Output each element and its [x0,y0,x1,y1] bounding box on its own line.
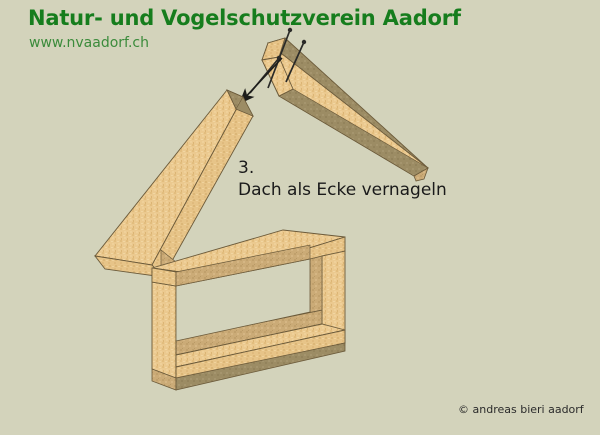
instruction-step-text: Dach als Ecke vernageln [238,180,447,200]
birdhouse-assembly-diagram [0,0,600,435]
frame-left-stile-face [152,282,176,378]
page-canvas: Natur- und Vogelschutzverein Aadorf www.… [0,0,600,435]
right-roof-board [262,38,428,181]
copyright-notice: © andreas bieri aadorf [458,403,584,416]
frame-box [152,230,345,390]
instruction-step-number: 3. [238,158,254,178]
nail-1-head [288,28,292,32]
nail-2-head [302,40,306,44]
